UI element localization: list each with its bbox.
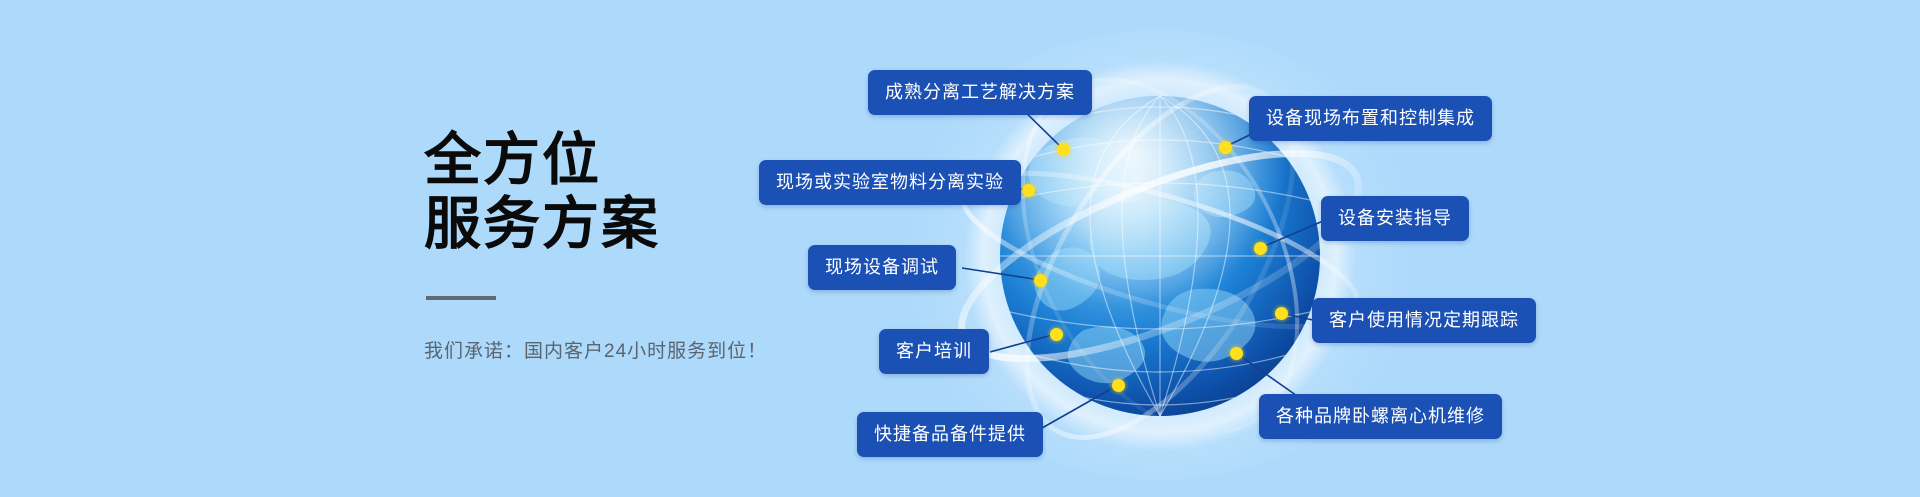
service-label-equipment-installation-guidance[interactable]: 设备安装指导	[1321, 196, 1469, 241]
service-label-customer-training[interactable]: 客户培训	[879, 329, 989, 374]
node-dot	[1275, 307, 1288, 320]
service-label-onsite-or-lab-material-separation-test[interactable]: 现场或实验室物料分离实验	[759, 160, 1021, 205]
node-dot	[1230, 347, 1243, 360]
globe-stage: 成熟分离工艺解决方案 设备现场布置和控制集成 现场或实验室物料分离实验 设备安装…	[0, 0, 1920, 497]
node-dot	[1219, 141, 1232, 154]
service-label-mature-separation-process[interactable]: 成熟分离工艺解决方案	[868, 70, 1092, 115]
node-dot	[1057, 143, 1070, 156]
service-banner: 全方位 服务方案 我们承诺：国内客户24小时服务到位！	[0, 0, 1920, 497]
service-label-onsite-layout-control-integration[interactable]: 设备现场布置和控制集成	[1249, 96, 1492, 141]
node-dot	[1034, 274, 1047, 287]
node-dot	[1022, 184, 1035, 197]
node-dot	[1112, 379, 1125, 392]
node-dot	[1050, 328, 1063, 341]
service-label-fast-spare-parts-supply[interactable]: 快捷备品备件提供	[857, 412, 1043, 457]
service-label-customer-usage-periodic-followup[interactable]: 客户使用情况定期跟踪	[1312, 298, 1536, 343]
service-label-all-brand-decanter-centrifuge-repair[interactable]: 各种品牌卧螺离心机维修	[1259, 394, 1502, 439]
node-dot	[1254, 242, 1267, 255]
service-label-onsite-equipment-commissioning[interactable]: 现场设备调试	[808, 245, 956, 290]
